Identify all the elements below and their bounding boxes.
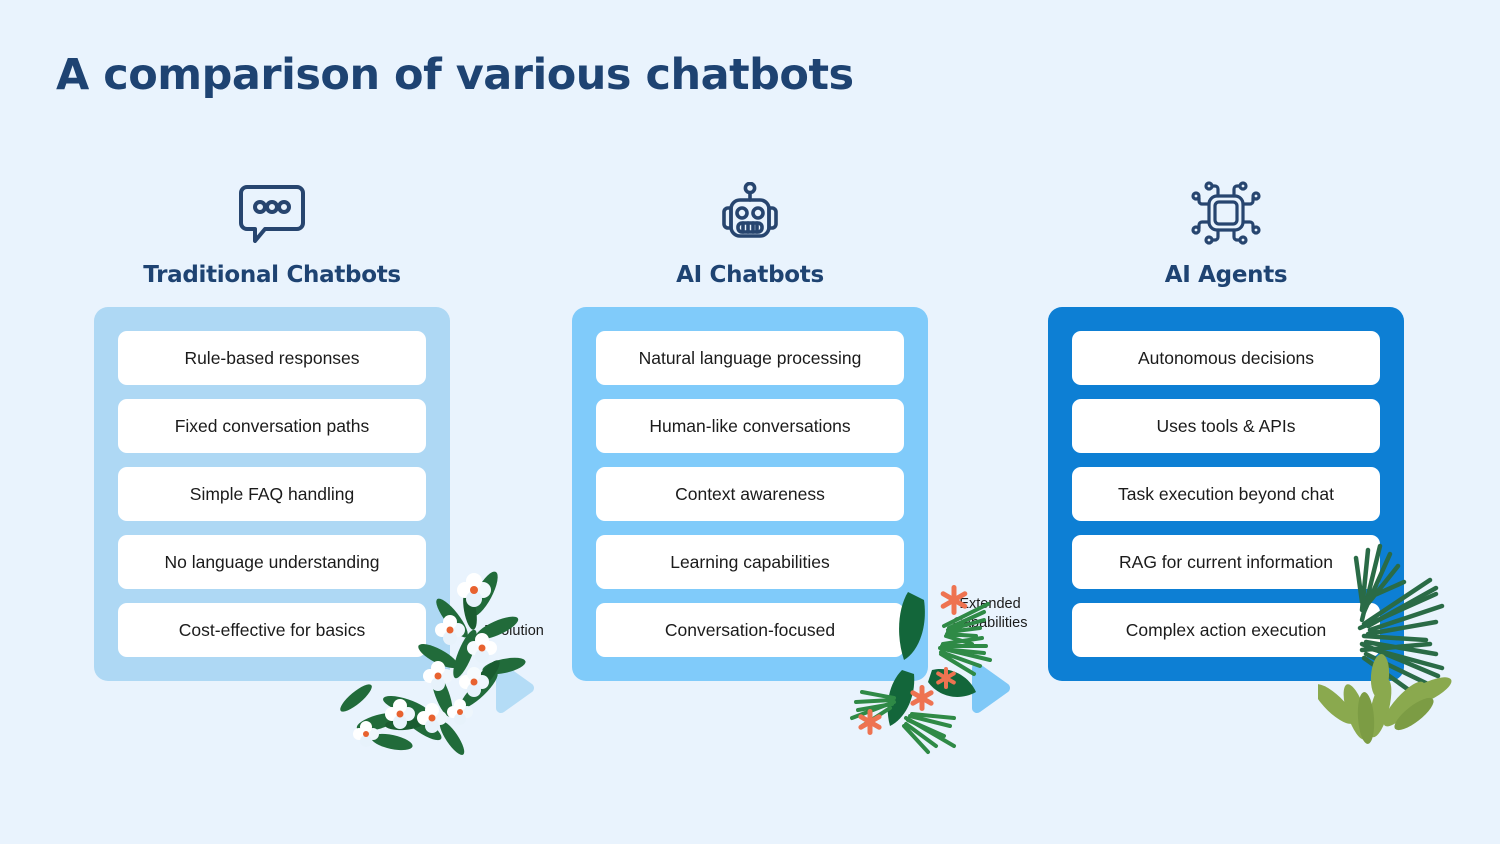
feature-panel-ai-agents: Autonomous decisions Uses tools & APIs T…	[1048, 307, 1404, 681]
feature-pill: Autonomous decisions	[1072, 331, 1380, 385]
feature-pill: Rule-based responses	[118, 331, 426, 385]
feature-pill: Fixed conversation paths	[118, 399, 426, 453]
column-traditional-chatbots: Traditional Chatbots Rule-based response…	[94, 178, 450, 681]
column-ai-chatbots: AI Chatbots Natural language processing …	[572, 178, 928, 681]
feature-pill: Human-like conversations	[596, 399, 904, 453]
ai-chip-icon	[1048, 178, 1404, 248]
column-ai-agents: AI Agents Autonomous decisions Uses tool…	[1048, 178, 1404, 681]
column-title: AI Agents	[1048, 262, 1404, 288]
feature-panel-ai-chatbots: Natural language processing Human-like c…	[572, 307, 928, 681]
feature-pill: Conversation-focused	[596, 603, 904, 657]
arrow-right-triangle-icon	[966, 661, 1014, 715]
connector-label: Evolution	[454, 622, 574, 641]
feature-pill: Learning capabilities	[596, 535, 904, 589]
feature-panel-traditional: Rule-based responses Fixed conversation …	[94, 307, 450, 681]
comparison-columns: Traditional Chatbots Rule-based response…	[0, 178, 1500, 698]
robot-head-icon	[572, 178, 928, 248]
page-title: A comparison of various chatbots	[56, 50, 854, 100]
feature-pill: No language understanding	[118, 535, 426, 589]
feature-pill: RAG for current information	[1072, 535, 1380, 589]
arrow-right-triangle-icon	[490, 661, 538, 715]
feature-pill: Simple FAQ handling	[118, 467, 426, 521]
feature-pill: Context awareness	[596, 467, 904, 521]
connector-label: ExtendedCapabilities	[930, 595, 1050, 633]
feature-pill: Uses tools & APIs	[1072, 399, 1380, 453]
column-title: Traditional Chatbots	[94, 262, 450, 288]
feature-pill: Natural language processing	[596, 331, 904, 385]
feature-pill: Cost-effective for basics	[118, 603, 426, 657]
feature-pill: Complex action execution	[1072, 603, 1380, 657]
speech-bubble-icon	[94, 178, 450, 248]
feature-pill: Task execution beyond chat	[1072, 467, 1380, 521]
column-title: AI Chatbots	[572, 262, 928, 288]
